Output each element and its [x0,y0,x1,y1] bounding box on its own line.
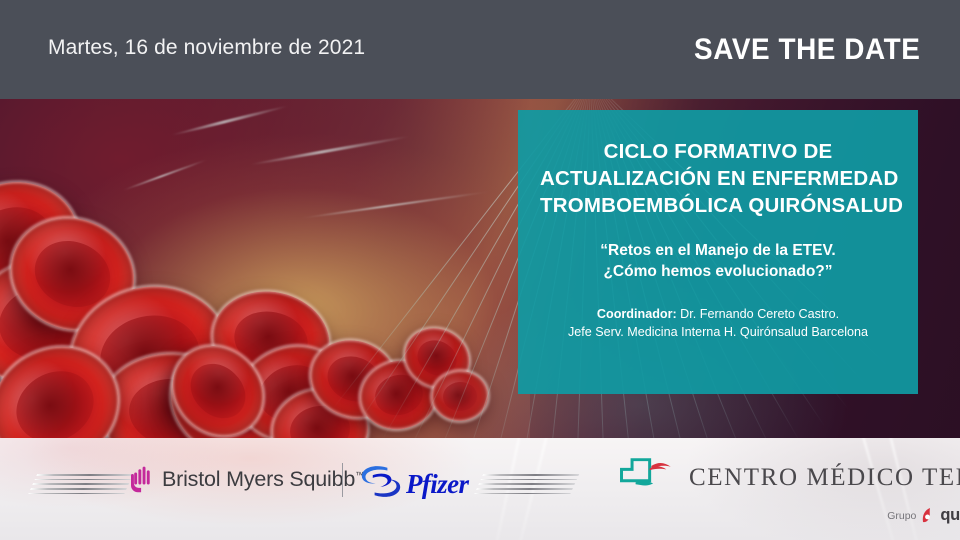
sponsor-logo-bristol-myers-squibb: Bristol Myers Squibb™ [130,466,364,493]
coordinator-line: Coordinador: Dr. Fernando Cereto Castro. [540,305,896,323]
pfizer-oval-icon [360,463,402,505]
coordinator-block: Coordinador: Dr. Fernando Cereto Castro.… [540,305,896,342]
coordinator-name: Dr. Fernando Cereto Castro. [677,307,839,321]
event-info-panel: CICLO FORMATIVO DE ACTUALIZACIÓN EN ENFE… [518,110,918,394]
event-subtitle-line-2: ¿Cómo hemos evolucionado?” [540,262,896,283]
decorative-lines-left [27,474,133,497]
fiber-streak [301,191,489,219]
grupo-label: Grupo [887,510,916,522]
teknon-wordmark: CENTRO MÉDICO TEKNON [689,464,960,492]
bms-wordmark: Bristol Myers Squibb™ [162,467,364,492]
decorative-lines-middle [473,474,579,497]
bms-hand-icon [130,466,153,493]
save-the-date-label: SAVE THE DATE [694,33,920,67]
bms-name: Bristol Myers Squibb [162,467,355,491]
header-bar: Martes, 16 de noviembre de 2021 SAVE THE… [0,0,960,99]
event-subtitle-line-1: “Retos en el Manejo de la ETEV. [540,241,896,262]
fiber-streak [171,105,288,137]
event-title: CICLO FORMATIVO DE ACTUALIZACIÓN EN ENFE… [540,138,896,219]
teknon-cross-icon [618,456,676,500]
event-subtitle: “Retos en el Manejo de la ETEV. ¿Cómo he… [540,241,896,283]
event-title-line-1: CICLO FORMATIVO DE [540,138,896,165]
fiber-streak [122,159,207,192]
coordinator-role: Jefe Serv. Medicina Interna H. Quirónsal… [540,323,896,341]
event-title-line-2: ACTUALIZACIÓN EN ENFERMEDAD [540,165,896,192]
quironsalud-leaf-icon [922,508,933,523]
sponsor-divider [342,463,343,497]
save-the-date-poster: Martes, 16 de noviembre de 2021 SAVE THE… [0,0,960,540]
pfizer-wordmark: Pfizer [406,469,468,500]
event-title-line-3: TROMBOEMBÓLICA QUIRÓNSALUD [540,192,896,219]
fiber-streak [251,135,409,165]
sponsor-logo-pfizer: Pfizer [360,463,468,505]
coordinator-label: Coordinador: [597,307,677,321]
quironsalud-wordmark: quirónsalud [940,506,960,525]
quiron-part: quirón [940,506,960,524]
organizer-logo-teknon: CENTRO MÉDICO TEKNON Grupo quirónsalud [618,456,960,525]
event-date: Martes, 16 de noviembre de 2021 [48,36,365,60]
